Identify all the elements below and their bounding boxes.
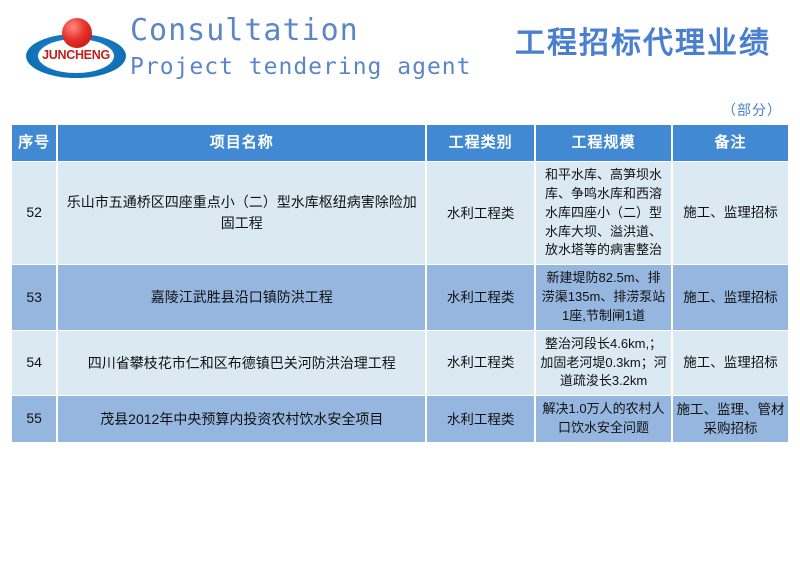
cell-project-type: 水利工程类 [427, 162, 534, 264]
page-title: 工程招标代理业绩 [515, 18, 771, 62]
cell-index: 54 [12, 331, 56, 396]
cell-project-name: 乐山市五通桥区四座重点小（二）型水库枢纽病害除险加固工程 [58, 162, 425, 264]
juncheng-logo: JUNCHENG [22, 12, 130, 82]
english-title-line1: Consultation [130, 14, 472, 48]
cell-index: 55 [12, 396, 56, 442]
cell-project-name: 茂县2012年中央预算内投资农村饮水安全项目 [58, 396, 425, 442]
column-header-type: 工程类别 [427, 125, 534, 161]
cell-project-type: 水利工程类 [427, 265, 534, 330]
column-header-note: 备注 [673, 125, 788, 161]
table-header-row: 序号 项目名称 工程类别 工程规模 备注 [12, 125, 788, 161]
table-row: 53 嘉陵江武胜县沿口镇防洪工程 水利工程类 新建堤防82.5m、排涝渠135m… [12, 265, 788, 330]
cell-project-name: 嘉陵江武胜县沿口镇防洪工程 [58, 265, 425, 330]
column-header-index: 序号 [12, 125, 56, 161]
cell-remark: 施工、监理招标 [673, 162, 788, 264]
page-header: JUNCHENG Consultation Project tendering … [0, 0, 800, 100]
cell-project-scale: 整治河段长4.6km,；加固老河堤0.3km；河道疏浚长3.2km [536, 331, 671, 396]
table-row: 55 茂县2012年中央预算内投资农村饮水安全项目 水利工程类 解决1.0万人的… [12, 396, 788, 442]
subtitle-partial-note: （部分） [722, 100, 782, 120]
cell-project-scale: 新建堤防82.5m、排涝渠135m、排涝泵站1座,节制闸1道 [536, 265, 671, 330]
cell-remark: 施工、监理招标 [673, 265, 788, 330]
cell-remark: 施工、监理、管材采购招标 [673, 396, 788, 442]
project-performance-table: 序号 项目名称 工程类别 工程规模 备注 52 乐山市五通桥区四座重点小（二）型… [10, 124, 790, 443]
cell-project-type: 水利工程类 [427, 331, 534, 396]
english-title-block: Consultation Project tendering agent [130, 14, 472, 82]
english-title-line2: Project tendering agent [130, 52, 472, 82]
column-header-scale: 工程规模 [536, 125, 671, 161]
cell-index: 53 [12, 265, 56, 330]
column-header-name: 项目名称 [58, 125, 425, 161]
cell-project-name: 四川省攀枝花市仁和区布德镇巴关河防洪治理工程 [58, 331, 425, 396]
logo-red-sphere-icon [62, 18, 92, 48]
cell-project-scale: 和平水库、高笋坝水库、争鸣水库和西溶水库四座小（二）型水库大坝、溢洪道、放水塔等… [536, 162, 671, 264]
cell-remark: 施工、监理招标 [673, 331, 788, 396]
cell-project-type: 水利工程类 [427, 396, 534, 442]
logo-wordmark: JUNCHENG [31, 48, 121, 62]
cell-project-scale: 解决1.0万人的农村人口饮水安全问题 [536, 396, 671, 442]
table-row: 54 四川省攀枝花市仁和区布德镇巴关河防洪治理工程 水利工程类 整治河段长4.6… [12, 331, 788, 396]
cell-index: 52 [12, 162, 56, 264]
table-row: 52 乐山市五通桥区四座重点小（二）型水库枢纽病害除险加固工程 水利工程类 和平… [12, 162, 788, 264]
